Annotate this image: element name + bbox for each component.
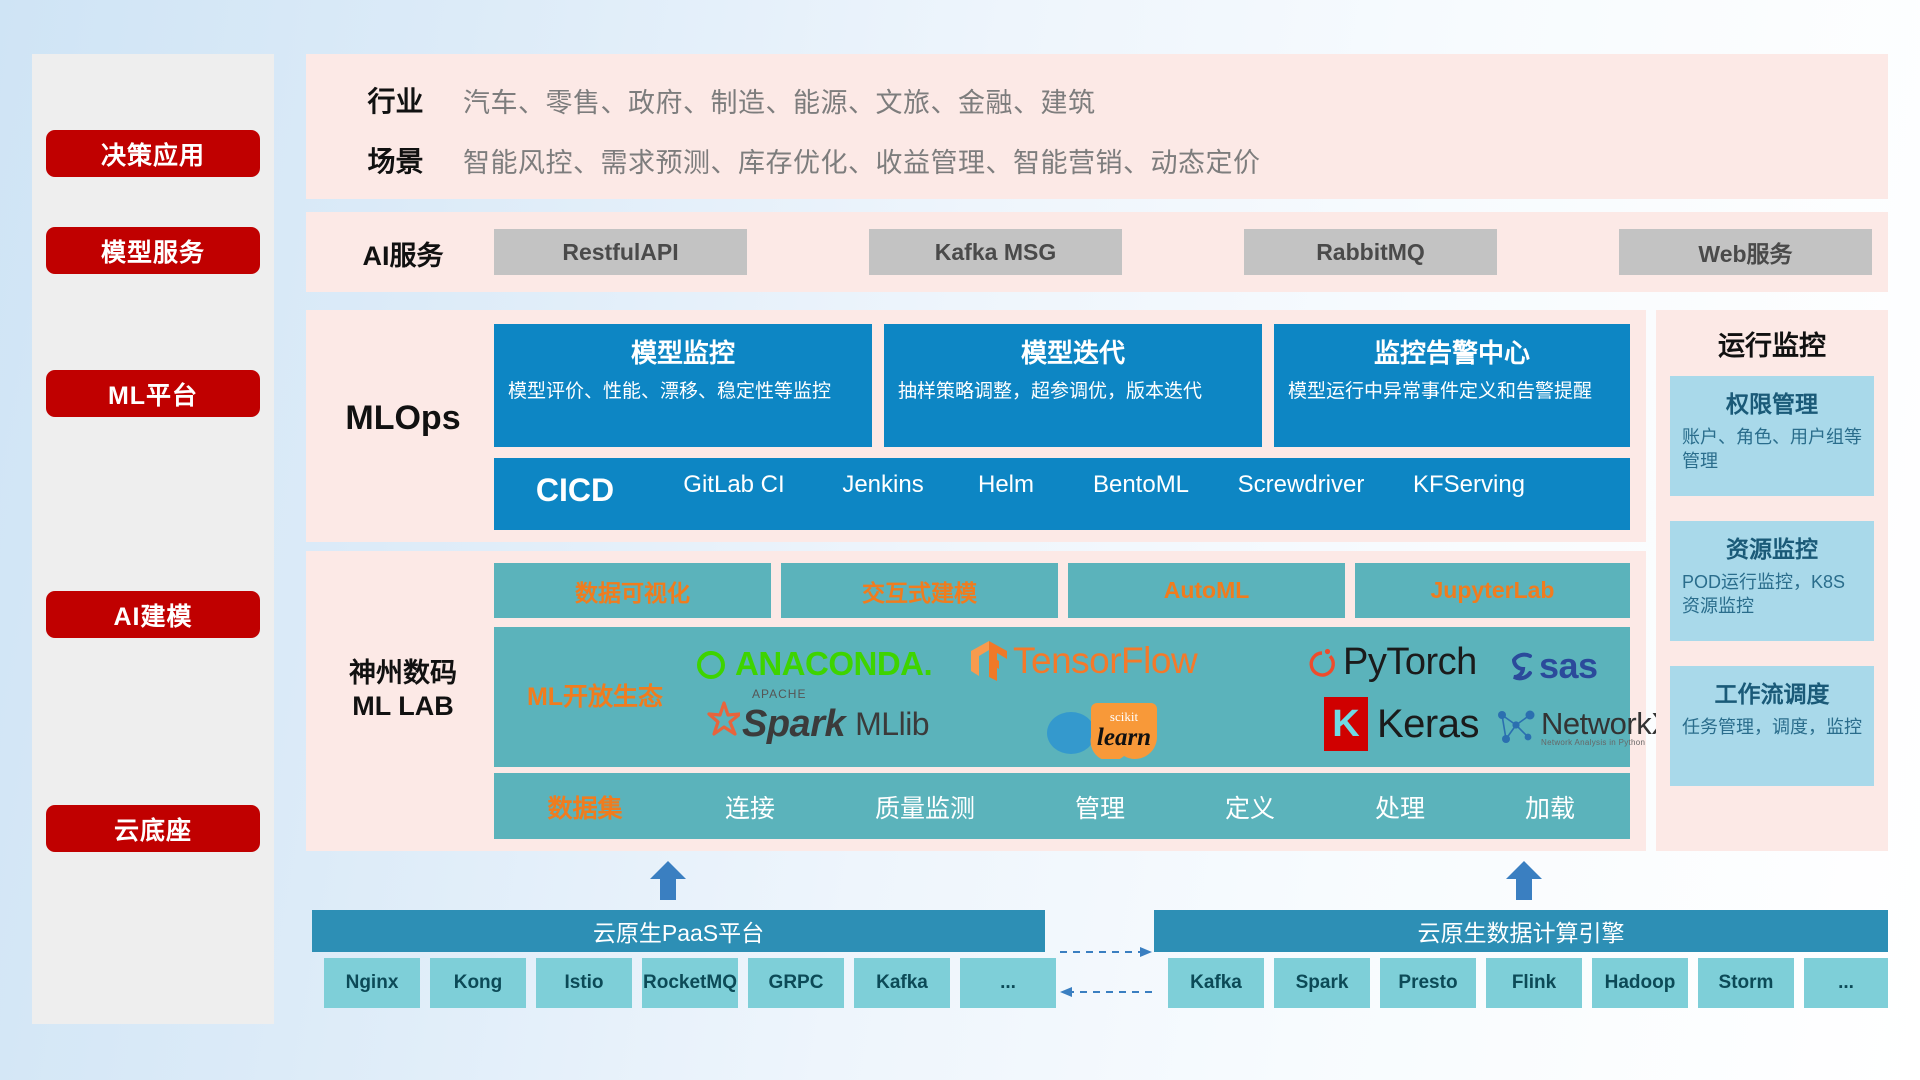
spark-apache-text: APACHE xyxy=(752,687,806,701)
spark-mllib-logo: APACHE Spark MLlib xyxy=(694,701,929,747)
scenario-row: 场景 智能风控、需求预测、库存优化、收益管理、智能营销、动态定价 xyxy=(328,140,1261,180)
cloud-chip-nginx[interactable]: Nginx xyxy=(324,958,420,1008)
dataset-item-connect[interactable]: 连接 xyxy=(680,789,820,825)
lab-tab-interactive-modeling[interactable]: 交互式建模 xyxy=(781,563,1058,618)
pytorch-flame-icon xyxy=(1306,644,1338,682)
dataset-item-define[interactable]: 定义 xyxy=(1180,789,1320,825)
cloud-paas-bar[interactable]: 云原生PaaS平台 xyxy=(312,910,1045,952)
scikit-learn-mark-icon: scikit learn xyxy=(1039,697,1169,759)
card-desc: 模型运行中异常事件定义和告警提醒 xyxy=(1288,379,1616,406)
industry-values: 汽车、零售、政府、制造、能源、文旅、金融、建筑 xyxy=(463,81,1096,120)
dataset-item-manage[interactable]: 管理 xyxy=(1030,789,1170,825)
cloud-chip-hadoop[interactable]: Hadoop xyxy=(1592,958,1688,1008)
ml-lab-label-line2: ML LAB xyxy=(320,690,486,723)
networkx-graph-icon xyxy=(1494,705,1536,747)
monitor-card-resource[interactable]: 资源监控 POD运行监控，K8S资源监控 xyxy=(1670,521,1874,641)
cloud-chip-more-right[interactable]: ... xyxy=(1804,958,1888,1008)
service-button-kafka-msg[interactable]: Kafka MSG xyxy=(869,229,1122,275)
networkx-logo: NetworkX Network Analysis in Python xyxy=(1494,705,1671,747)
cloud-chip-flink[interactable]: Flink xyxy=(1486,958,1582,1008)
card-title: 模型迭代 xyxy=(898,333,1248,370)
ai-service-label: AI服务 xyxy=(328,234,478,273)
cicd-item-screwdriver[interactable]: Screwdriver xyxy=(1216,470,1386,500)
service-button-web[interactable]: Web服务 xyxy=(1619,229,1872,275)
lab-tab-data-visualization[interactable]: 数据可视化 xyxy=(494,563,771,618)
anaconda-wordmark: ANACONDA. xyxy=(735,645,932,683)
ml-lab-label-line1: 神州数码 xyxy=(320,657,486,690)
learn-text: learn xyxy=(1097,724,1151,751)
cicd-item-jenkins[interactable]: Jenkins xyxy=(828,470,938,500)
spark-star-icon xyxy=(694,701,740,747)
card-title: 工作流调度 xyxy=(1682,675,1862,709)
tensorflow-wordmark: TensorFlow xyxy=(1013,640,1197,682)
cicd-toolbar: CICD GitLab CI Jenkins Helm BentoML Scre… xyxy=(494,458,1630,530)
anaconda-logo: ANACONDA. xyxy=(694,645,932,683)
scikit-text: scikit xyxy=(1110,709,1139,724)
cicd-item-bentoml[interactable]: BentoML xyxy=(1076,470,1206,500)
layer-rail: 决策应用 模型服务 ML平台 AI建模 云底座 xyxy=(32,54,274,1024)
mlops-label: MLOps xyxy=(328,398,478,439)
architecture-diagram: 决策应用 模型服务 ML平台 AI建模 云底座 行业 汽车、零售、政府、制造、能… xyxy=(0,0,1920,1080)
scenario-values: 智能风控、需求预测、库存优化、收益管理、智能营销、动态定价 xyxy=(463,141,1261,180)
arrow-up-icon-left xyxy=(648,860,688,900)
cloud-chip-kafka-r[interactable]: Kafka xyxy=(1168,958,1264,1008)
cloud-chip-kafka[interactable]: Kafka xyxy=(854,958,950,1008)
pytorch-logo: PyTorch xyxy=(1306,641,1477,684)
monitor-card-workflow[interactable]: 工作流调度 任务管理，调度，监控 xyxy=(1670,666,1874,786)
cloud-chip-storm[interactable]: Storm xyxy=(1698,958,1794,1008)
cloud-chip-grpc[interactable]: GRPC xyxy=(748,958,844,1008)
dataset-item-load[interactable]: 加载 xyxy=(1480,789,1620,825)
keras-mark-icon: K xyxy=(1324,697,1368,751)
dataset-row: 数据集 连接 质量监测 管理 定义 处理 加载 xyxy=(494,773,1630,839)
rail-item-decision-app[interactable]: 决策应用 xyxy=(46,130,260,177)
mllib-wordmark: MLlib xyxy=(855,706,929,743)
mlops-band: MLOps 模型监控 模型评价、性能、漂移、稳定性等监控 模型迭代 抽样策略调整… xyxy=(306,310,1646,542)
cicd-item-helm[interactable]: Helm xyxy=(946,470,1066,500)
cicd-item-kfserving[interactable]: KFServing xyxy=(1394,470,1544,500)
mlops-card-model-monitoring[interactable]: 模型监控 模型评价、性能、漂移、稳定性等监控 xyxy=(494,324,872,447)
sas-wordmark: sas xyxy=(1539,645,1598,687)
service-button-restfulapi[interactable]: RestfulAPI xyxy=(494,229,747,275)
card-desc: 模型评价、性能、漂移、稳定性等监控 xyxy=(508,379,858,406)
card-title: 资源监控 xyxy=(1682,530,1862,564)
ml-ecosystem-box: ML开放生态 ANACONDA. TensorFlow xyxy=(494,627,1630,767)
mlops-card-model-iteration[interactable]: 模型迭代 抽样策略调整，超参调优，版本迭代 xyxy=(884,324,1262,447)
ml-lab-band: 神州数码 ML LAB 数据可视化 交互式建模 AutoML JupyterLa… xyxy=(306,551,1646,851)
monitor-card-permission[interactable]: 权限管理 账户、角色、用户组等管理 xyxy=(1670,376,1874,496)
tensorflow-logo: TensorFlow xyxy=(969,639,1197,683)
rail-item-cloud-base[interactable]: 云底座 xyxy=(46,805,260,852)
mlops-card-alert-center[interactable]: 监控告警中心 模型运行中异常事件定义和告警提醒 xyxy=(1274,324,1630,447)
cicd-item-gitlab-ci[interactable]: GitLab CI xyxy=(654,470,814,500)
cloud-chip-kong[interactable]: Kong xyxy=(430,958,526,1008)
cloud-chip-spark[interactable]: Spark xyxy=(1274,958,1370,1008)
cloud-chip-more-left[interactable]: ... xyxy=(960,958,1056,1008)
card-desc: 抽样策略调整，超参调优，版本迭代 xyxy=(898,379,1248,406)
rail-item-ai-modeling[interactable]: AI建模 xyxy=(46,591,260,638)
arrow-up-icon-right xyxy=(1504,860,1544,900)
card-desc: 任务管理，调度，监控 xyxy=(1682,715,1862,739)
ai-service-band: AI服务 RestfulAPI Kafka MSG RabbitMQ Web服务 xyxy=(306,212,1888,292)
keras-mark-letter: K xyxy=(1332,703,1359,746)
cloud-chip-istio[interactable]: Istio xyxy=(536,958,632,1008)
cicd-label: CICD xyxy=(500,470,650,510)
ml-ecosystem-label: ML开放生态 xyxy=(520,677,670,713)
runtime-monitor-column: 运行监控 权限管理 账户、角色、用户组等管理 资源监控 POD运行监控，K8S资… xyxy=(1656,310,1888,851)
service-button-rabbitmq[interactable]: RabbitMQ xyxy=(1244,229,1497,275)
sas-swirl-icon xyxy=(1503,650,1537,682)
card-desc: 账户、角色、用户组等管理 xyxy=(1682,425,1862,474)
pytorch-wordmark: PyTorch xyxy=(1343,641,1477,684)
dataset-label: 数据集 xyxy=(500,789,670,825)
card-desc: POD运行监控，K8S资源监控 xyxy=(1682,570,1862,619)
rail-item-model-service[interactable]: 模型服务 xyxy=(46,227,260,274)
keras-wordmark: Keras xyxy=(1377,702,1479,747)
runtime-monitor-heading: 运行监控 xyxy=(1656,324,1888,363)
lab-tab-jupyterlab[interactable]: JupyterLab xyxy=(1355,563,1630,618)
cloud-link-arrows xyxy=(1056,940,1156,1010)
ml-lab-label: 神州数码 ML LAB xyxy=(320,657,486,723)
scenario-label: 场景 xyxy=(328,140,463,180)
industry-label: 行业 xyxy=(328,80,463,120)
sas-logo: sas xyxy=(1503,645,1598,687)
cloud-chip-rocketmq[interactable]: RocketMQ xyxy=(642,958,738,1008)
keras-logo: K Keras xyxy=(1324,697,1479,751)
card-title: 权限管理 xyxy=(1682,385,1862,419)
tensorflow-mark-icon xyxy=(969,639,1009,683)
dataset-item-process[interactable]: 处理 xyxy=(1330,789,1470,825)
card-title: 模型监控 xyxy=(508,333,858,370)
industry-scenario-band: 行业 汽车、零售、政府、制造、能源、文旅、金融、建筑 场景 智能风控、需求预测、… xyxy=(306,54,1888,199)
networkx-wordmark: NetworkX xyxy=(1541,706,1671,741)
card-title: 监控告警中心 xyxy=(1288,333,1616,370)
anaconda-mark-icon xyxy=(694,647,728,681)
cloud-chip-presto[interactable]: Presto xyxy=(1380,958,1476,1008)
spark-wordmark: Spark xyxy=(742,703,845,745)
lab-tab-automl[interactable]: AutoML xyxy=(1068,563,1345,618)
rail-item-ml-platform[interactable]: ML平台 xyxy=(46,370,260,417)
industry-row: 行业 汽车、零售、政府、制造、能源、文旅、金融、建筑 xyxy=(328,80,1096,120)
cloud-data-engine-bar[interactable]: 云原生数据计算引擎 xyxy=(1154,910,1888,952)
scikit-learn-logo: scikit learn xyxy=(1039,697,1169,759)
dataset-item-quality[interactable]: 质量监测 xyxy=(830,789,1020,825)
